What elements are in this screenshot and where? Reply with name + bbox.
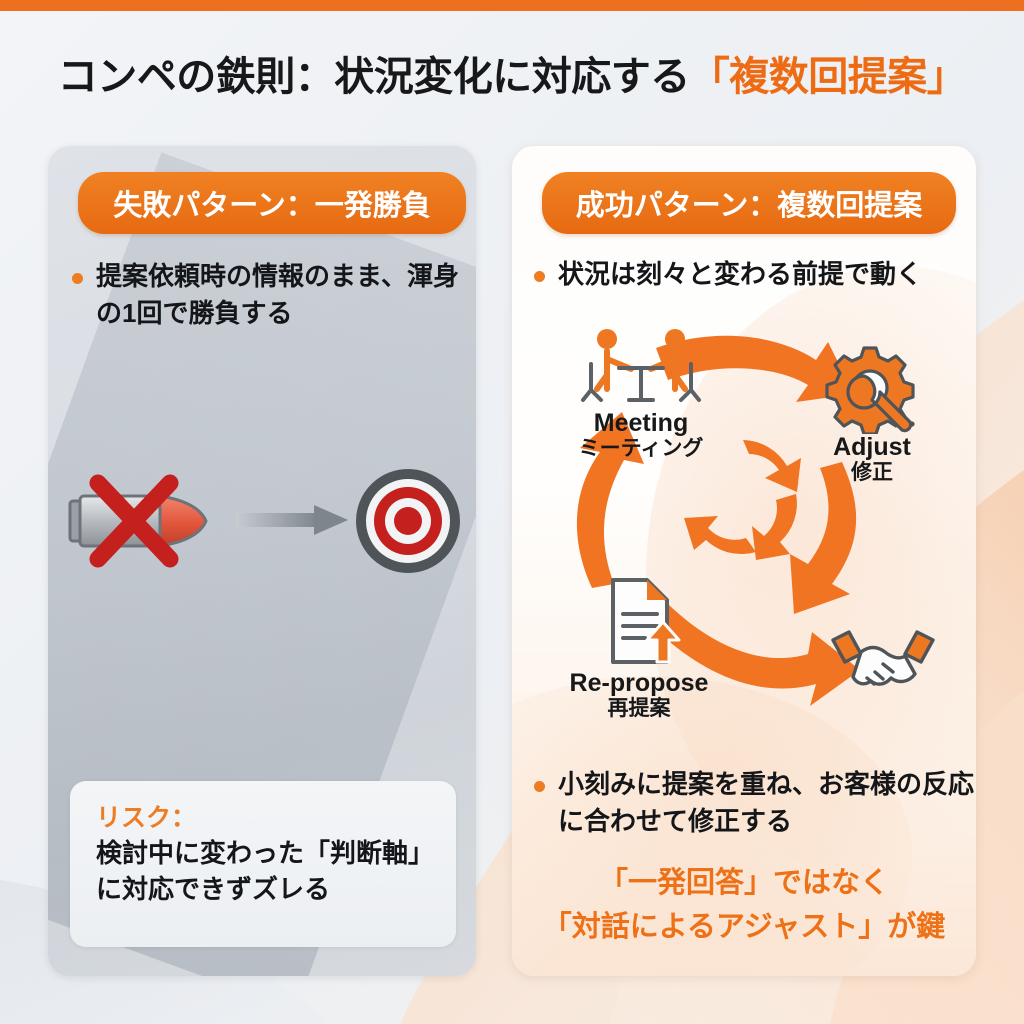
bullet-dot-icon: [534, 271, 545, 282]
gear-wrench-icon: [820, 342, 924, 434]
failure-bullet-text: 提案依頼時の情報のまま、渾身の1回で勝負する: [96, 258, 472, 332]
cycle-node-meeting-label-en: Meeting: [546, 410, 736, 436]
failure-pattern-header-pill: 失敗パターン：一発勝負: [78, 172, 466, 234]
meeting-table-icon: [575, 326, 707, 410]
success-bullet-top-text: 状況は刻々と変わる前提で動く: [558, 256, 922, 293]
success-bullet-item-top: 状況は刻々と変わる前提で動く: [534, 256, 974, 293]
conclusion-line-2: 「対話によるアジャスト」が鍵: [512, 906, 976, 950]
cycle-node-meeting-label-ja: ミーティング: [546, 436, 736, 461]
bullet-dot-icon: [534, 781, 545, 792]
improvement-cycle-diagram: Meeting ミーティング Adjust 修正: [528, 322, 968, 742]
failure-pattern-header-label: 失敗パターン：一発勝負: [113, 182, 431, 224]
cycle-node-repropose-label-en: Re-propose: [534, 670, 744, 696]
success-pattern-header-pill: 成功パターン：複数回提案: [542, 172, 956, 234]
bullet-dot-icon: [72, 273, 83, 284]
success-pattern-header-label: 成功パターン：複数回提案: [576, 182, 923, 224]
success-bullet-bottom-text: 小刻みに提案を重ね、お客様の反応に合わせて修正する: [558, 766, 974, 840]
page-title-main: コンペの鉄則：状況変化に対応する: [58, 55, 690, 99]
cycle-node-adjust: Adjust 修正: [784, 342, 960, 485]
cycle-node-adjust-label-ja: 修正: [784, 460, 960, 485]
page-title: コンペの鉄則：状況変化に対応する「複数回提案」: [0, 44, 1024, 102]
target-icon: [361, 474, 455, 568]
cycle-node-repropose-label-ja: 再提案: [534, 696, 744, 721]
risk-text: 検討中に変わった「判断軸」に対応できずズレる: [96, 836, 432, 908]
risk-callout-box: リスク： 検討中に変わった「判断軸」に対応できずズレる: [70, 781, 456, 947]
cycle-node-deal: [808, 622, 958, 696]
conclusion-line-1: 「一発回答」ではなく: [512, 862, 976, 906]
risk-label: リスク：: [96, 803, 432, 834]
page-title-accent: 「複数回提案」: [690, 55, 967, 99]
failure-bullet-item: 提案依頼時の情報のまま、渾身の1回で勝負する: [72, 258, 472, 332]
document-upload-icon: [587, 574, 691, 670]
conclusion-message: 「一発回答」ではなく 「対話によるアジャスト」が鍵: [512, 862, 976, 949]
handshake-icon: [827, 622, 939, 696]
gray-arrow-icon: [236, 505, 348, 535]
cycle-node-meeting: Meeting ミーティング: [546, 326, 736, 461]
cycle-node-repropose: Re-propose 再提案: [534, 574, 744, 721]
success-bullet-item-bottom: 小刻みに提案を重ね、お客様の反応に合わせて修正する: [534, 766, 974, 840]
one-shot-illustration: [60, 455, 470, 595]
top-accent-bar: [0, 0, 1024, 11]
cycle-node-adjust-label-en: Adjust: [784, 434, 960, 460]
